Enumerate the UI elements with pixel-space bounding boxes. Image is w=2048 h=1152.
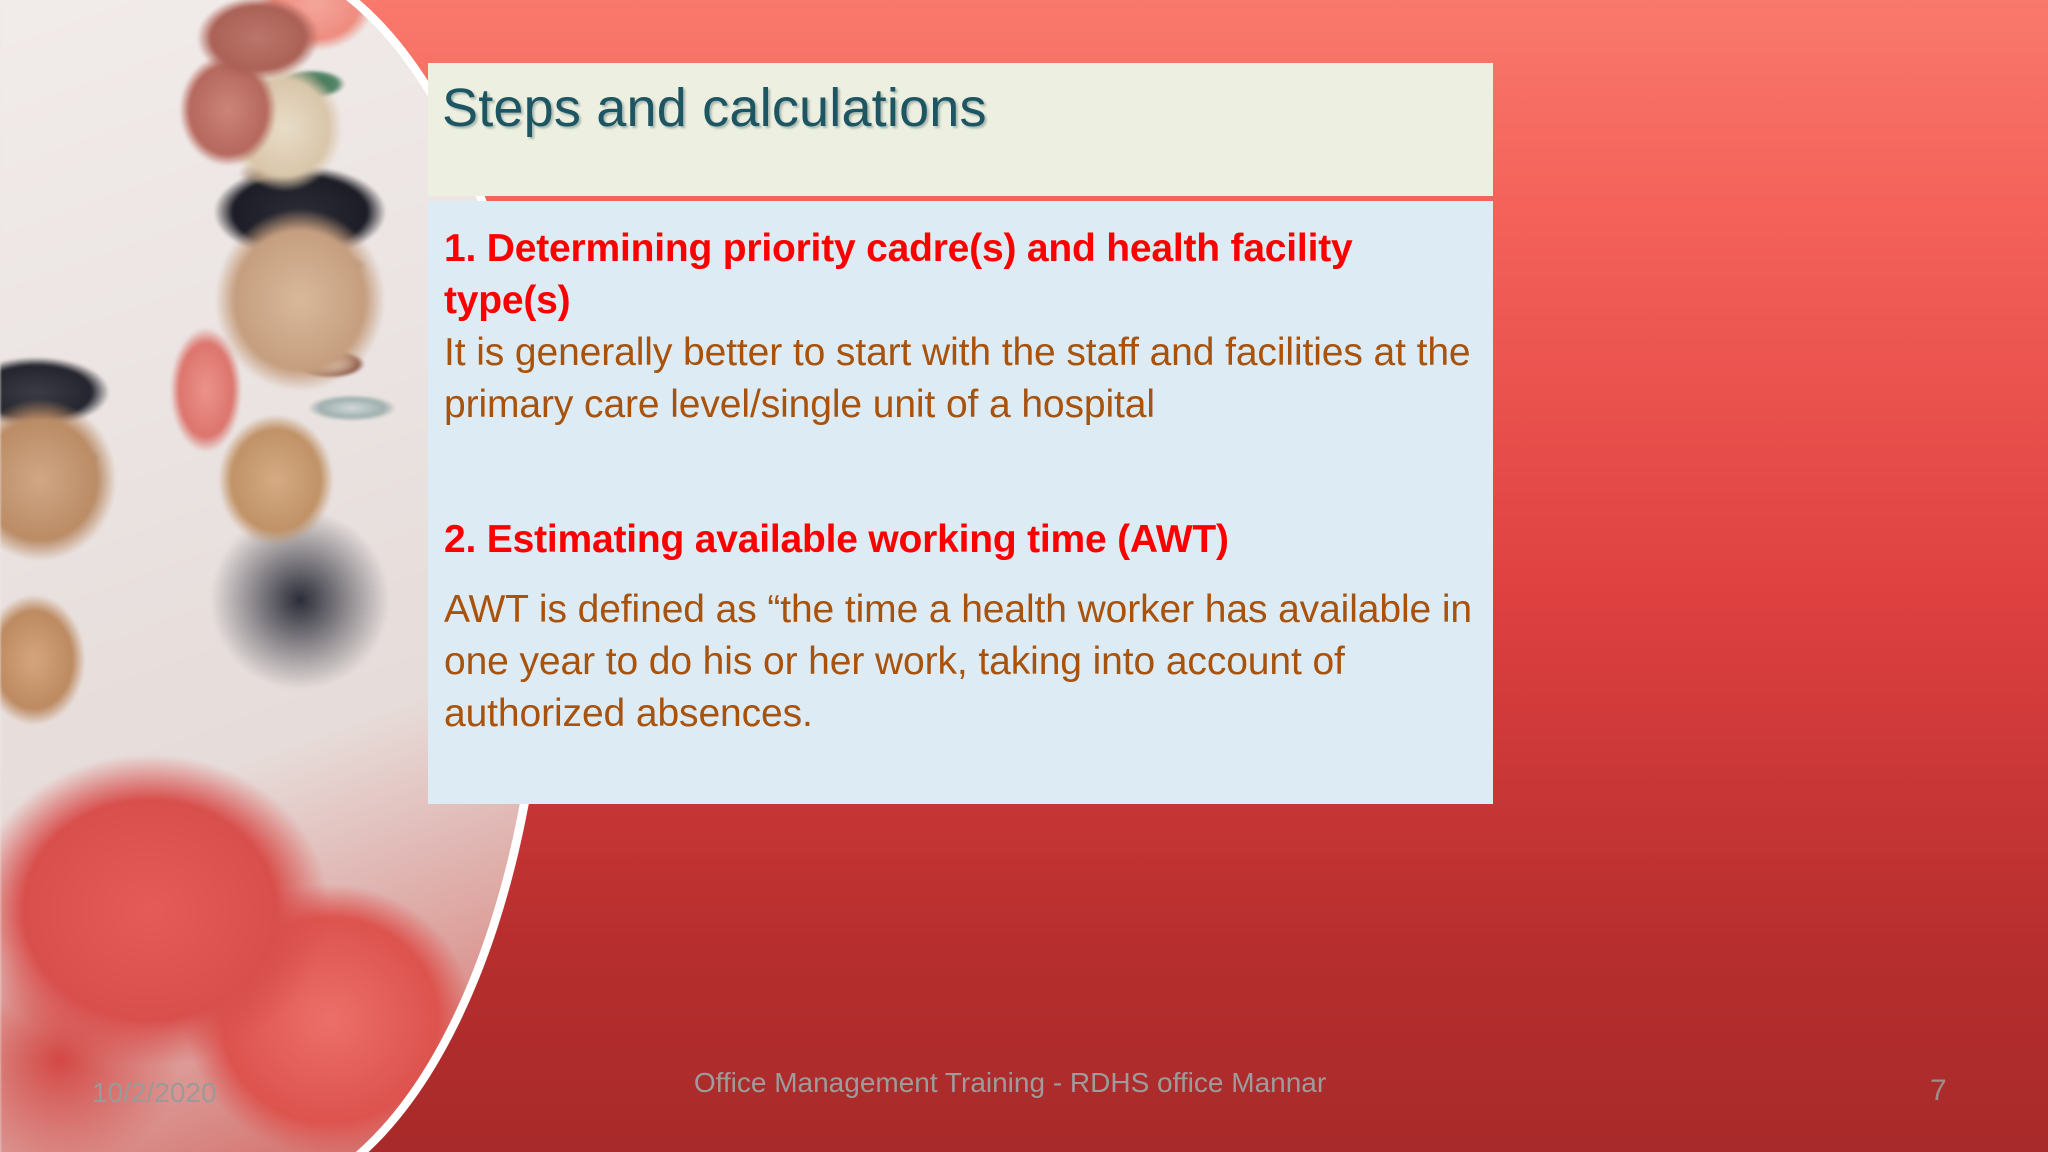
slide-number: 7	[1930, 1074, 1947, 1108]
content-paragraph-1: It is generally better to start with the…	[444, 327, 1475, 431]
slide-title-box: Steps and calculations	[428, 63, 1493, 196]
slide-content-box: 1. Determining priority cadre(s) and hea…	[428, 201, 1493, 804]
footer-title: Office Management Training - RDHS office…	[560, 1066, 1460, 1100]
content-heading-1: 1. Determining priority cadre(s) and hea…	[444, 223, 1475, 327]
content-spacer-small	[444, 566, 1475, 584]
page-title: Steps and calculations	[442, 77, 987, 139]
content-paragraph-2: AWT is defined as “the time a health wor…	[444, 584, 1475, 740]
footer-date: 10/2/2020	[92, 1077, 217, 1109]
content-spacer	[444, 430, 1475, 514]
content-heading-2: 2. Estimating available working time (AW…	[444, 514, 1475, 566]
presentation-slide: Steps and calculations 1. Determining pr…	[0, 0, 2048, 1152]
